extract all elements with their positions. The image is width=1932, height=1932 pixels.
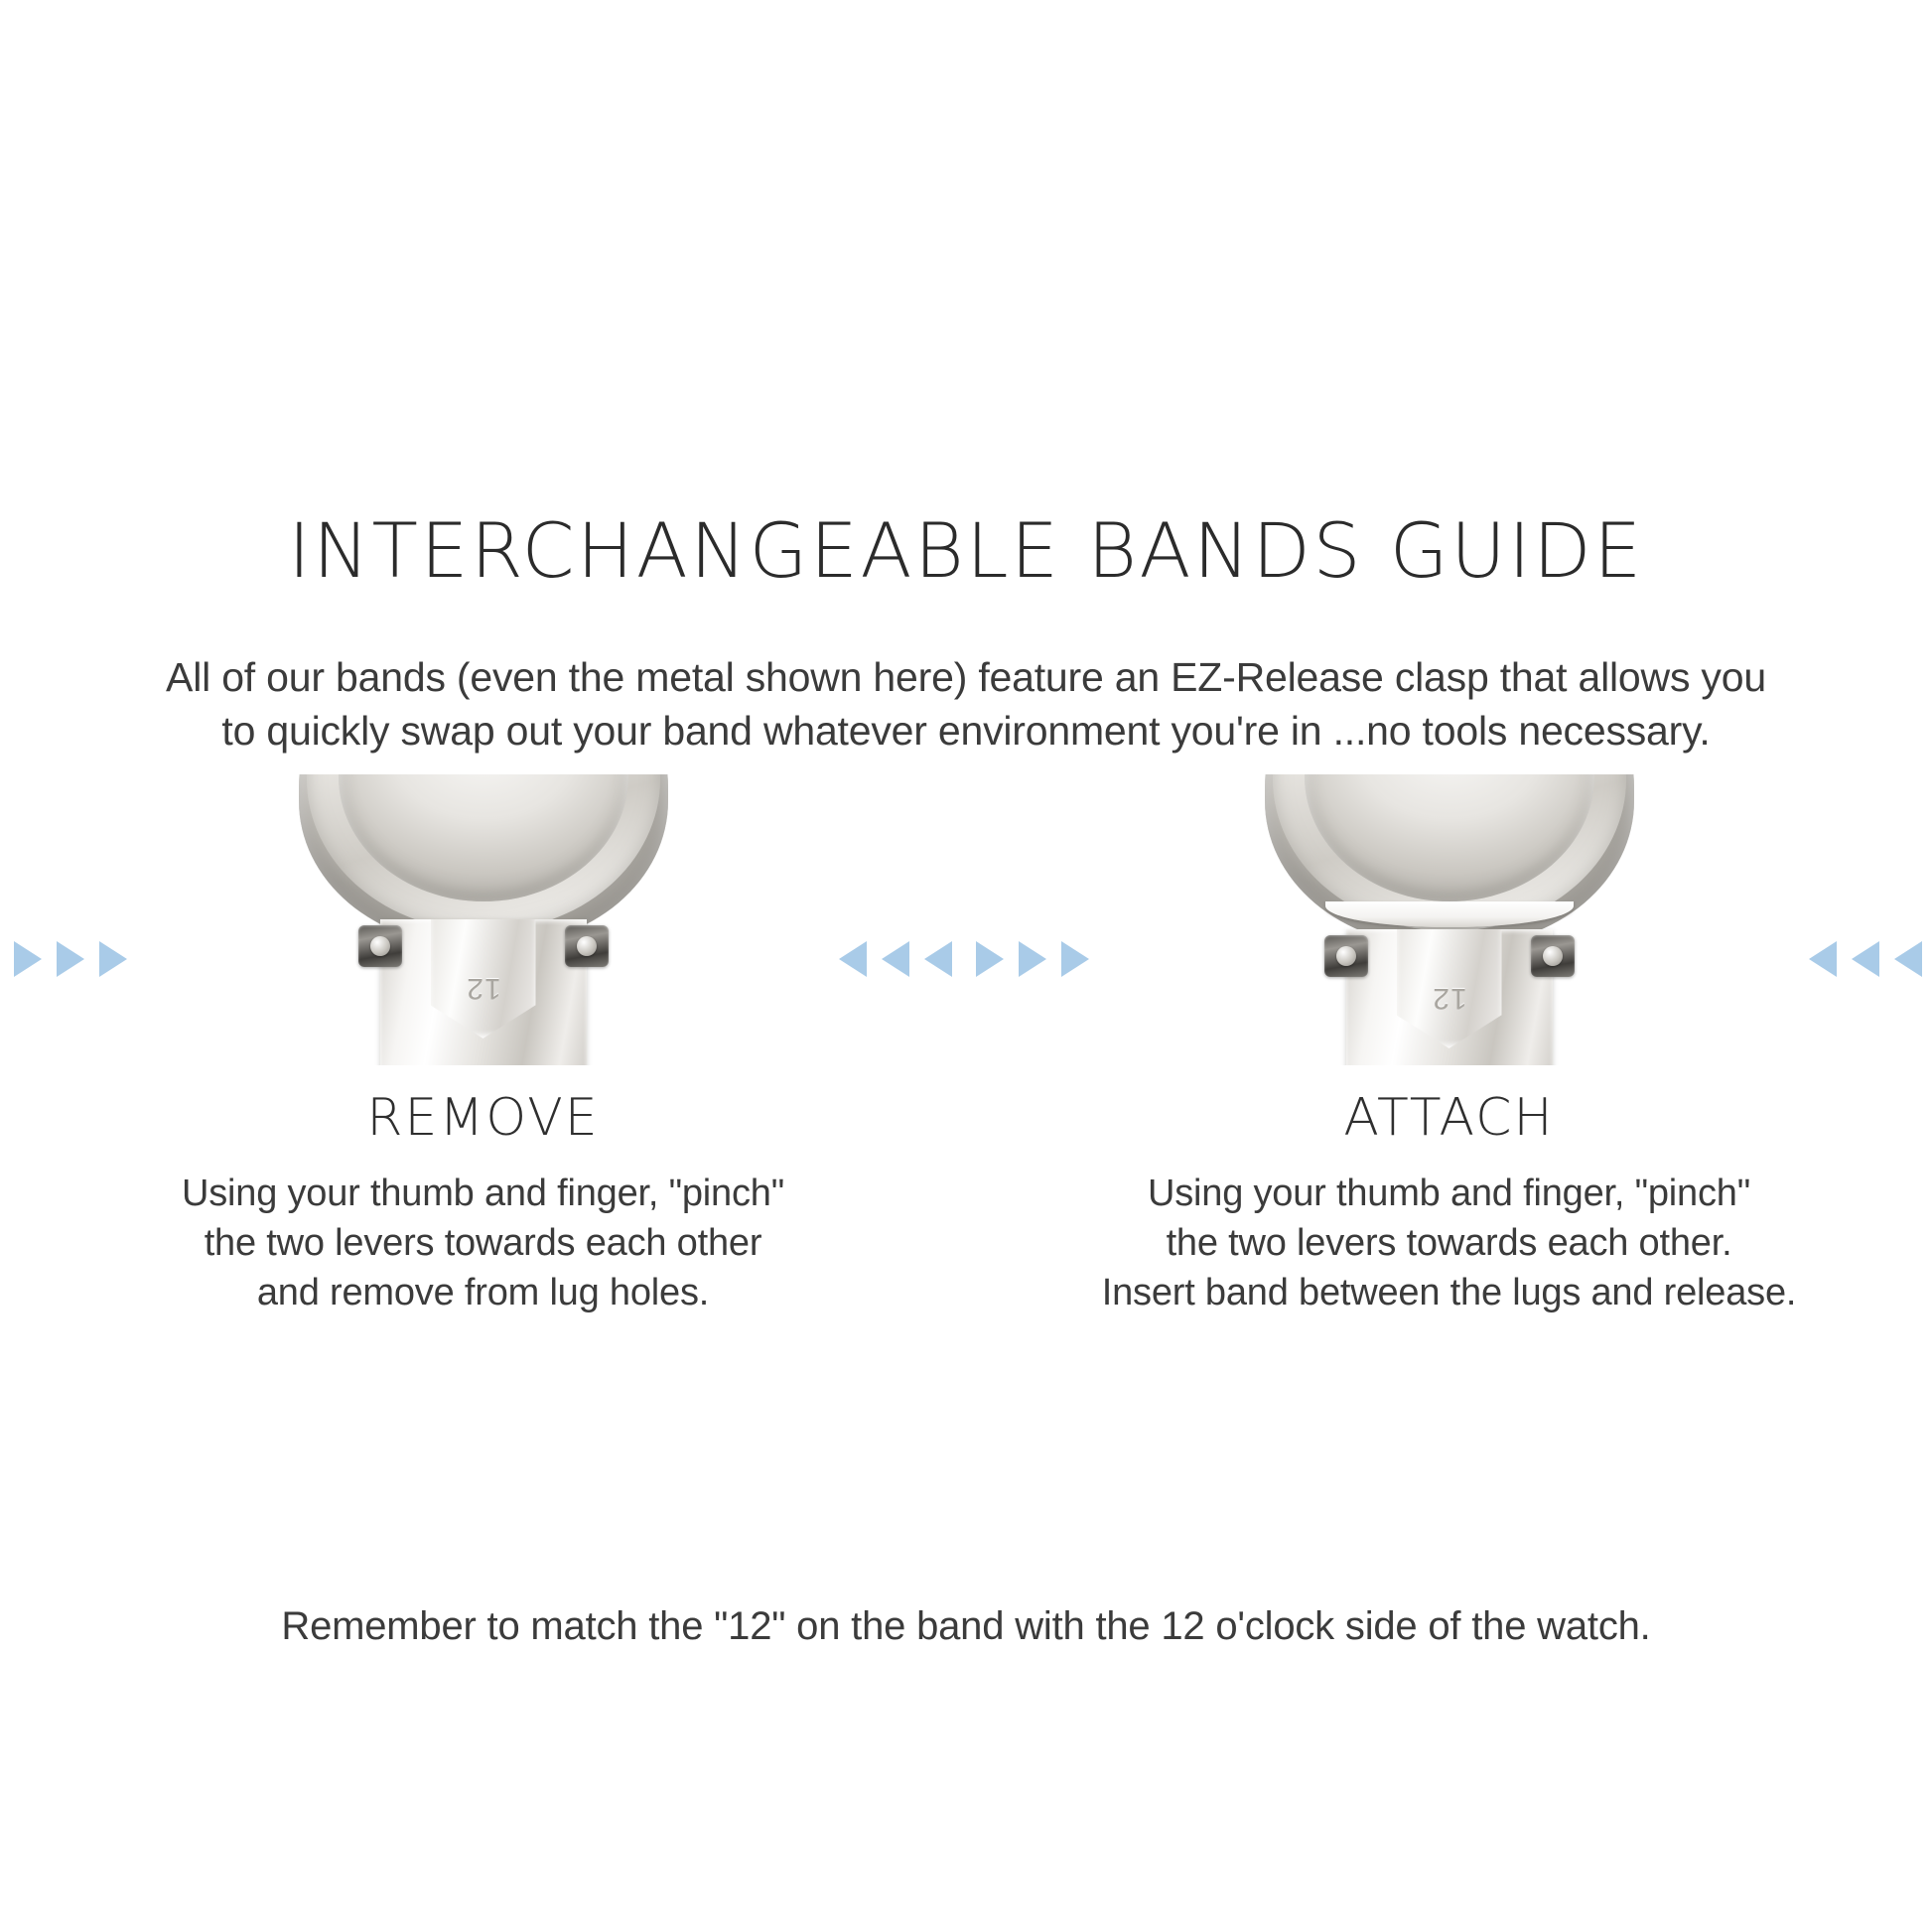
- arrow-right-icon: [99, 941, 127, 977]
- footer-note: Remember to match the "12" on the band w…: [0, 1600, 1932, 1652]
- step-heading-remove: REMOVE: [366, 1090, 599, 1147]
- steps-container: Chronon CHRONOGRAPH: [0, 774, 1932, 1317]
- arrow-left-icon: [1894, 941, 1922, 977]
- caption-line: the two levers towards each other.: [1003, 1218, 1896, 1268]
- attach-arrows-right: [1809, 941, 1922, 977]
- watch-illustration: Chronon CHRONOGRAPH: [1241, 774, 1658, 1065]
- caption-line: and remove from lug holes.: [37, 1268, 930, 1317]
- spring-bar-pin: [370, 936, 390, 956]
- remove-figure: Chronon CHRONOGRAPH: [0, 774, 966, 1072]
- caption-line: Insert band between the lugs and release…: [1003, 1268, 1896, 1317]
- attach-figure: Chronon CHRONOGRAPH: [966, 774, 1932, 1072]
- watch-band-endlink: 12: [1346, 929, 1553, 1065]
- band-12-engraving: 12: [466, 971, 500, 1005]
- intro-paragraph: All of our bands (even the metal shown h…: [159, 650, 1773, 758]
- arrow-left-icon: [1809, 941, 1837, 977]
- caption-line: Using your thumb and finger, "pinch": [1003, 1169, 1896, 1218]
- spring-bar-pin: [1543, 946, 1563, 966]
- watch-illustration: Chronon CHRONOGRAPH: [285, 774, 682, 1065]
- page-title: INTERCHANGEABLE BANDS GUIDE: [0, 513, 1932, 589]
- release-lever-left: [358, 925, 402, 967]
- arrow-left-icon: [839, 941, 867, 977]
- remove-watch-photo: Chronon CHRONOGRAPH: [285, 774, 682, 1065]
- step-caption-remove: Using your thumb and finger, "pinch" the…: [37, 1169, 930, 1317]
- arrow-left-icon: [882, 941, 909, 977]
- spring-bar-pin: [577, 936, 597, 956]
- attach-watch-photo: Chronon CHRONOGRAPH: [1241, 774, 1658, 1065]
- arrow-right-icon: [57, 941, 84, 977]
- step-caption-attach: Using your thumb and finger, "pinch" the…: [1003, 1169, 1896, 1317]
- release-lever-left: [1324, 935, 1368, 977]
- remove-arrows-right: [839, 941, 952, 977]
- bands-guide-page: INTERCHANGEABLE BANDS GUIDE All of our b…: [0, 0, 1932, 1932]
- step-column-attach: Chronon CHRONOGRAPH: [966, 774, 1932, 1317]
- arrow-right-icon: [976, 941, 1004, 977]
- step-heading-attach: ATTACH: [1343, 1090, 1554, 1147]
- arrow-right-icon: [14, 941, 42, 977]
- band-12-engraving: 12: [1432, 981, 1466, 1015]
- watch-band-endlink: 12: [380, 919, 587, 1065]
- band-center-link: 12: [1397, 929, 1502, 1048]
- arrow-right-icon: [1019, 941, 1046, 977]
- attach-arrows-left: [976, 941, 1089, 977]
- release-lever-right: [1531, 935, 1575, 977]
- caption-line: the two levers towards each other: [37, 1218, 930, 1268]
- arrow-right-icon: [1061, 941, 1089, 977]
- step-column-remove: Chronon CHRONOGRAPH: [0, 774, 966, 1317]
- spring-bar-pin: [1336, 946, 1356, 966]
- release-lever-right: [565, 925, 609, 967]
- caption-line: Using your thumb and finger, "pinch": [37, 1169, 930, 1218]
- band-center-link: 12: [431, 919, 536, 1038]
- remove-arrows-left: [14, 941, 127, 977]
- arrow-left-icon: [1852, 941, 1879, 977]
- arrow-left-icon: [924, 941, 952, 977]
